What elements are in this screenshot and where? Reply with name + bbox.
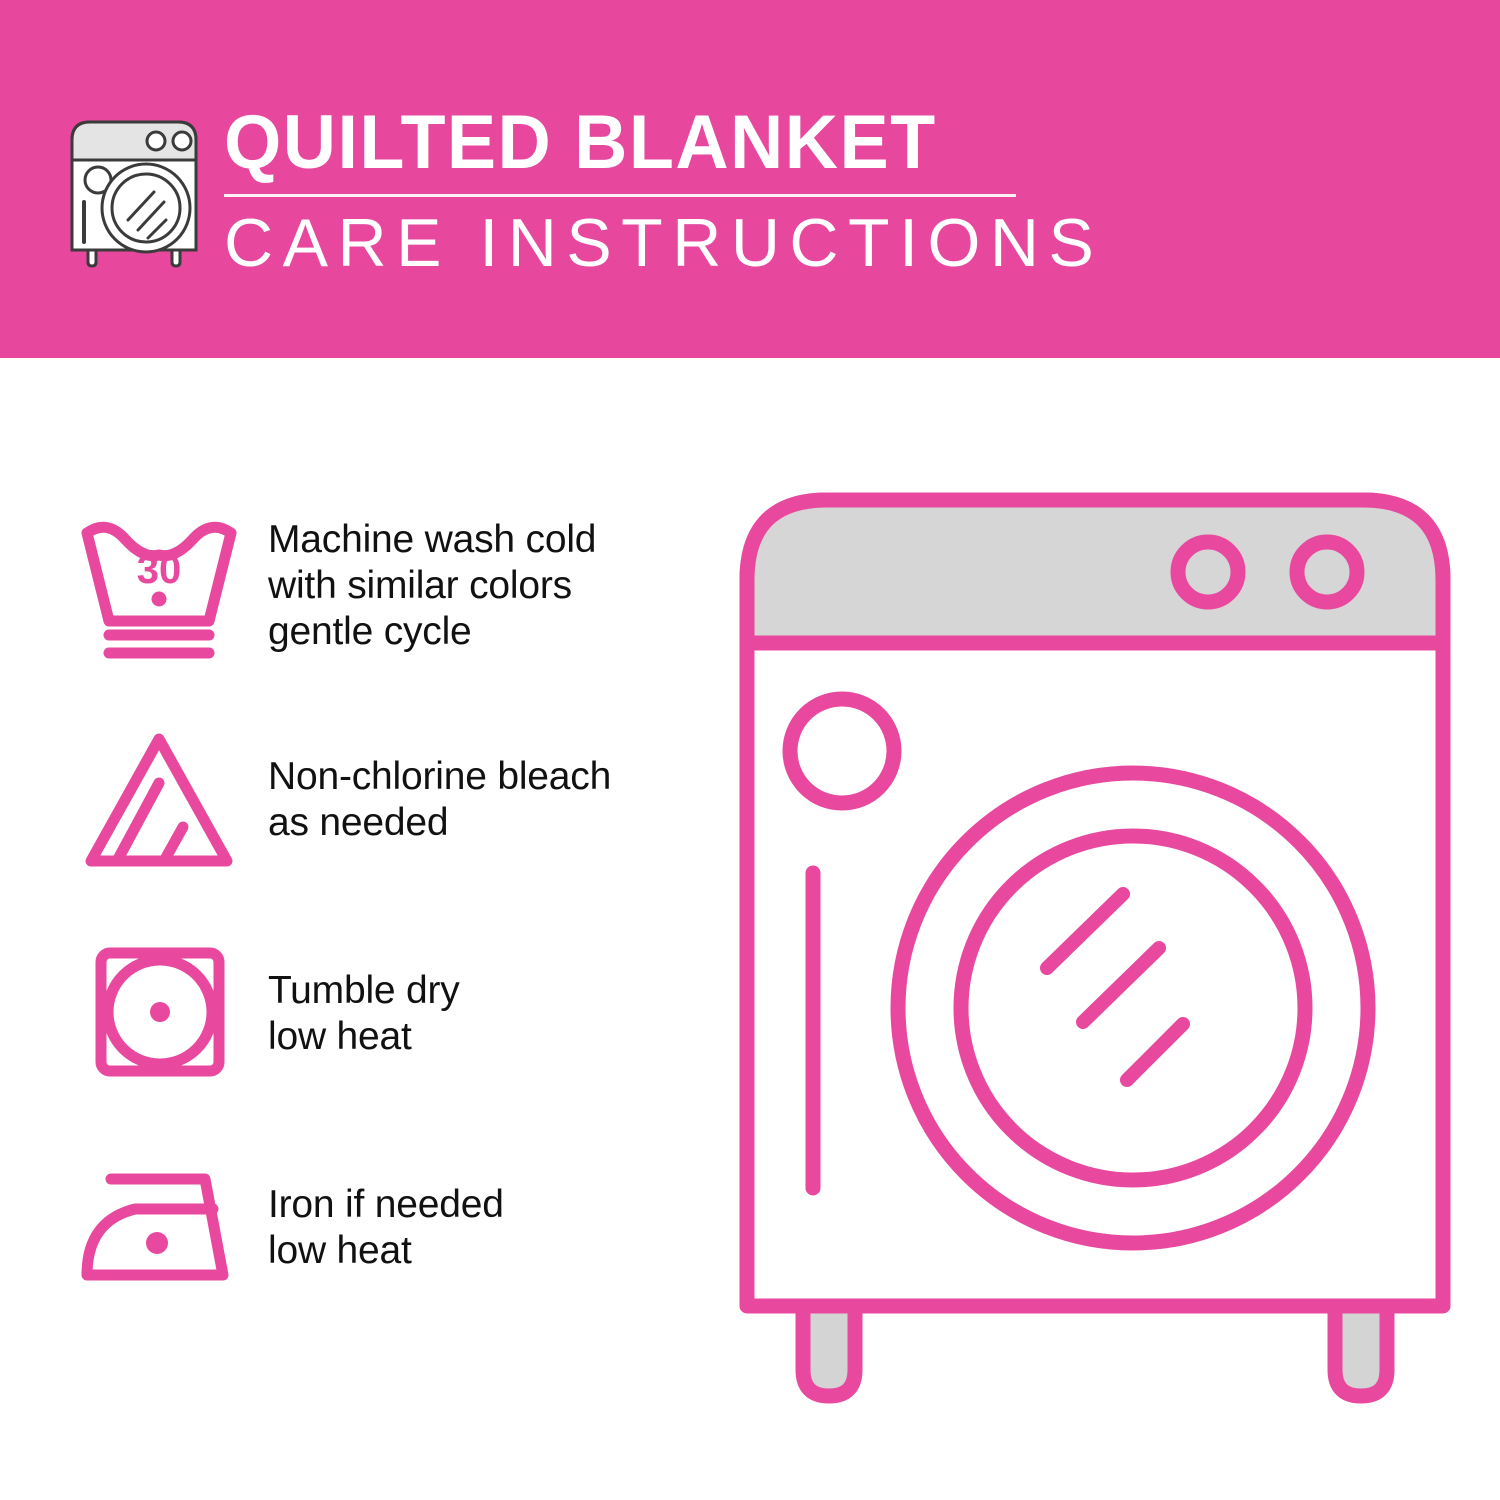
care-label-tumble-dry: Tumble dry low heat (268, 968, 460, 1060)
control-knob-left (1178, 542, 1238, 602)
care-label-line: low heat (268, 1228, 504, 1274)
door-inner-ring (961, 836, 1305, 1180)
front-load-washing-machine-illustration (735, 488, 1455, 1418)
care-instructions-page: QUILTED BLANKET CARE INSTRUCTIONS (0, 0, 1500, 1500)
wash-temperature-label: 30 (137, 548, 182, 592)
care-row-tumble-dry: Tumble dry low heat (70, 926, 710, 1102)
iron-low-heat-icon (70, 1148, 248, 1308)
washing-machine-icon (62, 110, 206, 268)
care-row-bleach: Non-chlorine bleach as needed (70, 712, 710, 888)
care-label-line: low heat (268, 1014, 460, 1060)
care-label-bleach: Non-chlorine bleach as needed (268, 754, 611, 846)
care-label-line: Tumble dry (268, 968, 460, 1014)
care-label-iron: Iron if needed low heat (268, 1182, 504, 1274)
page-title: QUILTED BLANKET (224, 104, 1077, 182)
detergent-port (790, 699, 894, 803)
tumble-dry-low-heat-icon (70, 934, 248, 1094)
title-divider (224, 194, 1016, 197)
care-label-line: Machine wash cold (268, 517, 596, 563)
care-label-line: Non-chlorine bleach (268, 754, 611, 800)
header-banner: QUILTED BLANKET CARE INSTRUCTIONS (0, 0, 1500, 358)
care-label-line: with similar colors (268, 563, 596, 609)
header-content: QUILTED BLANKET CARE INSTRUCTIONS (62, 104, 1103, 279)
control-knob-right (1297, 542, 1357, 602)
care-row-iron: Iron if needed low heat (70, 1140, 710, 1316)
machine-leg-left (803, 1306, 855, 1396)
header-title-group: QUILTED BLANKET CARE INSTRUCTIONS (224, 104, 1103, 279)
wash-tub-30-gentle-icon: 30 (70, 506, 248, 666)
care-label-line: Iron if needed (268, 1182, 504, 1228)
care-instruction-list: 30 Machine wash cold with similar colors… (70, 498, 710, 1316)
body-area: 30 Machine wash cold with similar colors… (0, 358, 1500, 1500)
page-subtitle: CARE INSTRUCTIONS (224, 207, 1103, 279)
care-label-machine-wash: Machine wash cold with similar colors ge… (268, 517, 596, 655)
care-row-machine-wash: 30 Machine wash cold with similar colors… (70, 498, 710, 674)
care-label-line: as needed (268, 800, 611, 846)
non-chlorine-bleach-triangle-icon (70, 720, 248, 880)
machine-leg-right (1335, 1306, 1387, 1396)
care-label-line: gentle cycle (268, 609, 596, 655)
